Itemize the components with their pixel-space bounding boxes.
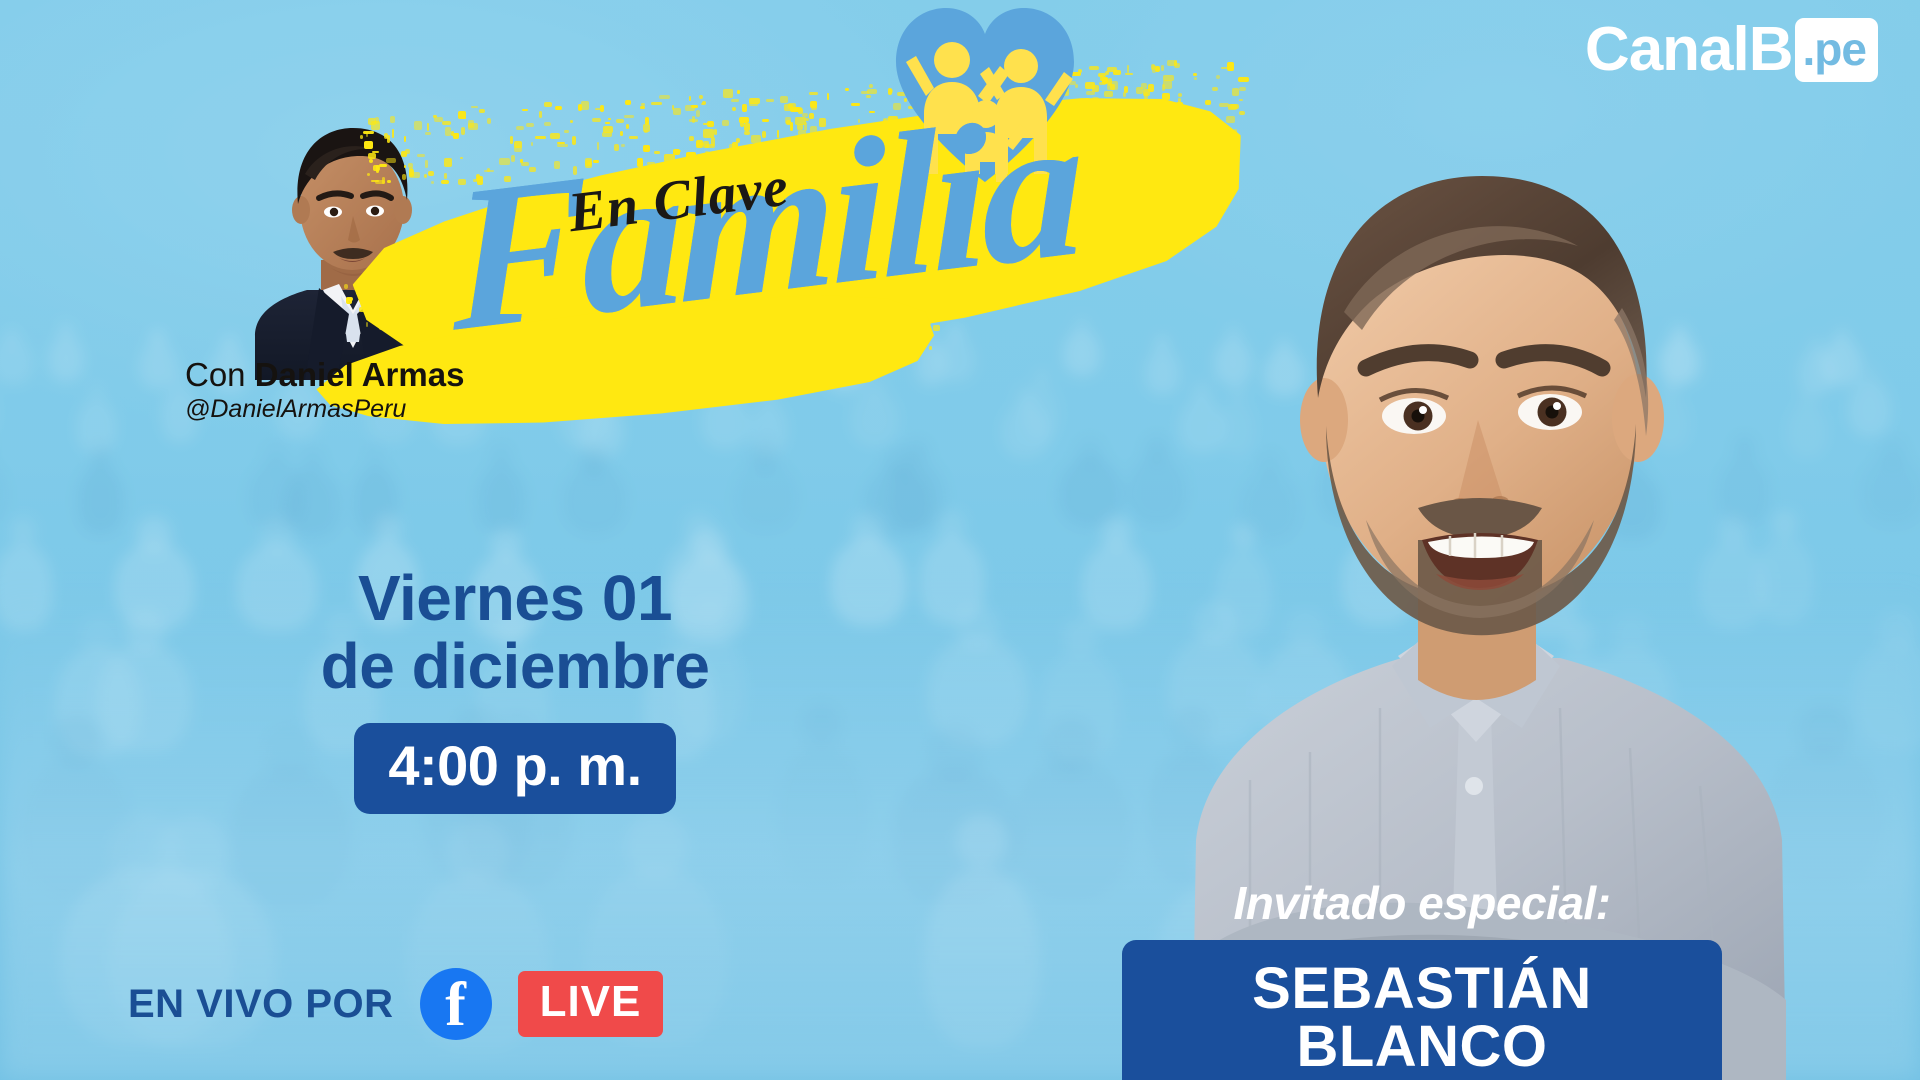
guest-name: SEBASTIÁN BLANCO	[1252, 956, 1592, 1079]
host-name-text: Daniel Armas	[255, 356, 465, 393]
time-badge: 4:00 p. m.	[354, 723, 675, 814]
date-line-2: de diciembre	[280, 633, 750, 701]
guest-block: Invitado especial: SEBASTIÁN BLANCO	[1122, 880, 1722, 1080]
broadcast-row: EN VIVO POR f LIVE	[128, 968, 663, 1040]
host-name-line: Con Daniel Armas	[185, 358, 565, 393]
schedule-block: Viernes 01 de diciembre 4:00 p. m.	[280, 565, 750, 814]
facebook-icon[interactable]: f	[420, 968, 492, 1040]
host-credit: Con Daniel Armas @DanielArmasPeru	[185, 358, 565, 423]
host-prefix: Con	[185, 356, 255, 393]
guest-kicker: Invitado especial:	[1122, 880, 1722, 926]
brand-name: CanalB	[1585, 19, 1793, 81]
host-handle: @DanielArmasPeru	[185, 395, 565, 424]
broadcast-label: EN VIVO POR	[128, 982, 394, 1027]
live-badge: LIVE	[518, 971, 664, 1037]
brand-logo[interactable]: CanalB .pe	[1585, 18, 1878, 82]
promo-poster: CanalB .pe Familia En Clave	[0, 0, 1920, 1080]
brand-tld: .pe	[1795, 18, 1878, 82]
guest-name-box: SEBASTIÁN BLANCO	[1122, 940, 1722, 1080]
date-line-1: Viernes 01	[280, 565, 750, 633]
